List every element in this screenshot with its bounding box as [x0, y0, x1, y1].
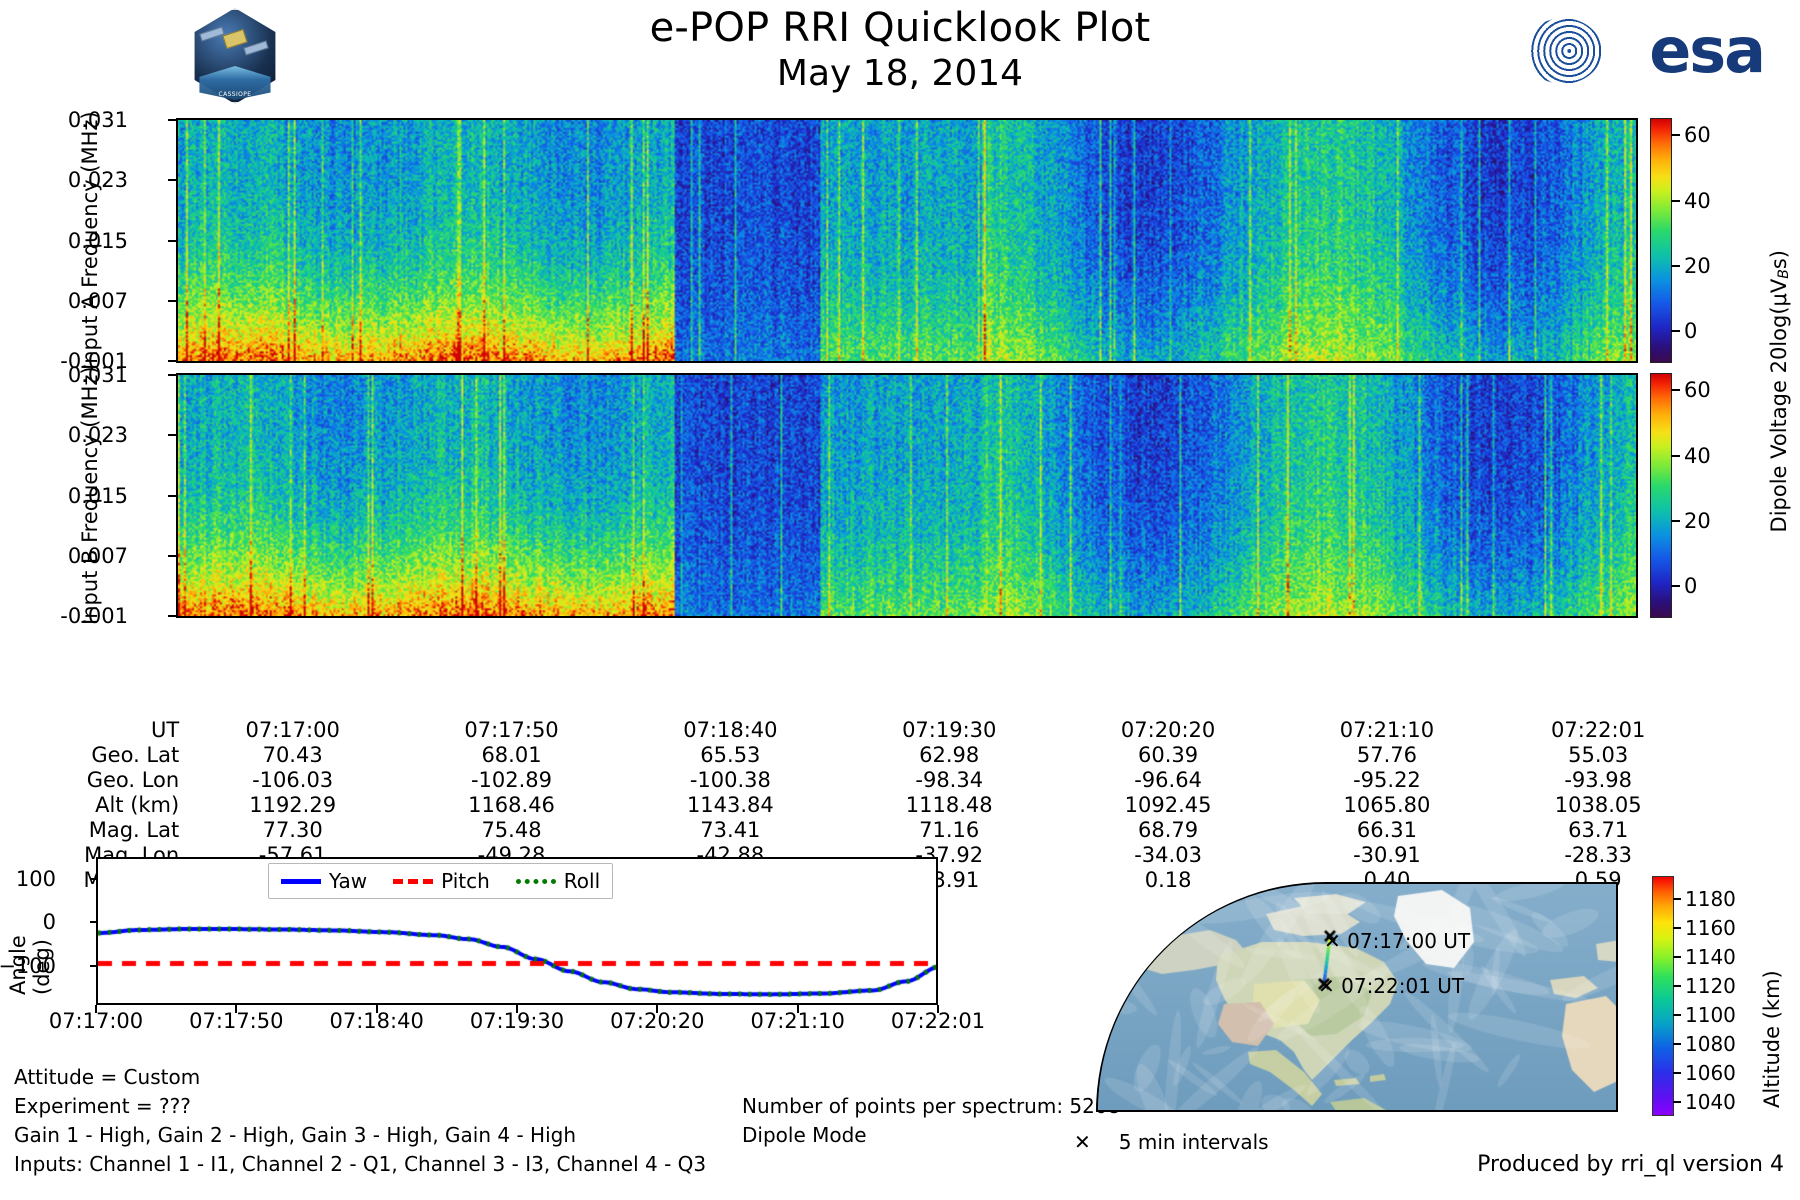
ephemeris-cell: 07:20:20 — [1059, 718, 1278, 743]
attitude-xtick-mark — [235, 1005, 237, 1013]
ephemeris-row-label: Geo. Lat — [0, 743, 183, 768]
legend-label: Pitch — [441, 869, 490, 893]
spectrogram-panel-a: Input A Frequency (MHz) 0.0310.0230.0150… — [0, 118, 1700, 363]
ephemeris-cell: 70.43 — [183, 743, 402, 768]
spectrogram-ytick-label: 0.023 — [68, 423, 128, 447]
ephemeris-cell: 68.01 — [402, 743, 621, 768]
attitude-plot: Angle (deg) 1000−10007:17:0007:17:5007:1… — [0, 855, 1000, 1055]
table-row: UT07:17:0007:17:5007:18:4007:19:3007:20:… — [0, 718, 1700, 743]
spectrogram-b-image — [176, 373, 1638, 618]
spectrogram-ytick-mark — [168, 434, 176, 436]
altitude-tick-label: 1060 — [1685, 1061, 1736, 1085]
colorbar-tick-mark — [1671, 389, 1680, 391]
ephemeris-cell: 77.30 — [183, 818, 402, 843]
spectrogram-ytick-mark — [168, 374, 176, 376]
ephemeris-cell: 07:19:30 — [840, 718, 1059, 743]
attitude-ytick-label: 0 — [43, 910, 56, 934]
spectrogram-ytick-label: 0.007 — [68, 544, 128, 568]
spectrogram-ytick-mark — [168, 240, 176, 242]
table-row: Geo. Lat70.4368.0165.5362.9860.3957.7655… — [0, 743, 1700, 768]
ephemeris-cell: 75.48 — [402, 818, 621, 843]
ephemeris-cell: 1168.46 — [402, 793, 621, 818]
ephemeris-cell: 65.53 — [621, 743, 840, 768]
altitude-tick-mark — [1673, 956, 1681, 958]
ephemeris-cell: 57.76 — [1278, 743, 1497, 768]
legend-swatch-icon — [393, 879, 433, 884]
footer-experiment-line: Experiment = ??? — [14, 1092, 706, 1121]
ephemeris-cell: 1038.05 — [1496, 793, 1700, 818]
footer-inputs-line: Inputs: Channel 1 - I1, Channel 2 - Q1, … — [14, 1150, 706, 1179]
altitude-tick-mark — [1673, 1101, 1681, 1103]
altitude-tick-mark — [1673, 898, 1681, 900]
colorbar-tick-mark — [1671, 585, 1680, 587]
colorbar-tick-mark — [1671, 265, 1680, 267]
interval-legend-label: 5 min intervals — [1119, 1130, 1269, 1154]
table-row: Alt (km)1192.291168.461143.841118.481092… — [0, 793, 1700, 818]
produced-by-label: Produced by rri_ql version 4 — [1477, 1152, 1784, 1177]
colorbar-tick-mark — [1671, 134, 1680, 136]
ground-track-map: ✕ 07:17:00 UT ✕ 07:22:01 UT 118011601140… — [1096, 882, 1636, 1162]
spectrogram-a-image — [176, 118, 1638, 363]
ephemeris-cell: 07:21:10 — [1278, 718, 1497, 743]
spectrogram-ytick-label: -0.001 — [60, 604, 128, 628]
ephemeris-cell: 71.16 — [840, 818, 1059, 843]
colorbar-tick-label: 60 — [1684, 123, 1711, 147]
map-marker-start-label: ✕ 07:17:00 UT — [1324, 929, 1470, 953]
attitude-xtick-mark — [656, 1005, 658, 1013]
footer-points-line: Number of points per spectrum: 5208 — [742, 1092, 1120, 1121]
page-header: CASSIOPE e-POP RRI Quicklook Plot May 18… — [0, 0, 1800, 110]
spectrogram-a-colorbar: 6040200 — [1650, 118, 1672, 363]
altitude-tick-label: 1160 — [1685, 916, 1736, 940]
spectrogram-b-colorbar: 6040200 — [1650, 373, 1672, 618]
ephemeris-cell: 60.39 — [1059, 743, 1278, 768]
colorbar-tick-label: 0 — [1684, 319, 1697, 343]
ephemeris-cell: 07:17:00 — [183, 718, 402, 743]
ephemeris-cell: -30.91 — [1278, 843, 1497, 868]
attitude-ytick-label: −100 — [0, 954, 56, 978]
ephemeris-row-label: Mag. Lat — [0, 818, 183, 843]
colorbar-tick-mark — [1671, 455, 1680, 457]
spectrogram-ytick-mark — [168, 495, 176, 497]
altitude-tick-label: 1180 — [1685, 887, 1736, 911]
spectrogram-a-ytick-labels: 0.0310.0230.0150.007-0.001 — [0, 118, 168, 363]
footer-middle-text: Number of points per spectrum: 5208 Dipo… — [742, 1092, 1120, 1150]
altitude-tick-label: 1040 — [1685, 1090, 1736, 1114]
esa-logo-icon: esa — [1524, 12, 1764, 90]
altitude-tick-mark — [1673, 1072, 1681, 1074]
ephemeris-row-label: Geo. Lon — [0, 768, 183, 793]
colorbar-tick-mark — [1671, 200, 1680, 202]
attitude-legend: YawPitchRoll — [268, 863, 613, 899]
spectrogram-ytick-mark — [168, 119, 176, 121]
ephemeris-cell: 68.79 — [1059, 818, 1278, 843]
ephemeris-cell: 63.71 — [1496, 818, 1700, 843]
footer-attitude-line: Attitude = Custom — [14, 1063, 706, 1092]
altitude-colorbar-title: Altitude (km) — [1760, 898, 1784, 1108]
ephemeris-cell: -34.03 — [1059, 843, 1278, 868]
ephemeris-cell: 07:17:50 — [402, 718, 621, 743]
ephemeris-cell: -100.38 — [621, 768, 840, 793]
ephemeris-cell: -98.34 — [840, 768, 1059, 793]
legend-swatch-icon — [281, 879, 321, 884]
legend-item: Pitch — [393, 869, 490, 893]
spectrogram-ytick-label: 0.015 — [68, 229, 128, 253]
legend-item: Roll — [516, 869, 600, 893]
altitude-tick-mark — [1673, 985, 1681, 987]
interval-marker-icon: ✕ — [1074, 1130, 1091, 1154]
altitude-tick-mark — [1673, 1043, 1681, 1045]
ephemeris-cell: 1092.45 — [1059, 793, 1278, 818]
altitude-colorbar: 11801160114011201100108010601040 — [1652, 876, 1674, 1116]
spectrogram-ytick-mark — [168, 300, 176, 302]
ephemeris-cell: -93.98 — [1496, 768, 1700, 793]
altitude-tick-label: 1140 — [1685, 945, 1736, 969]
ephemeris-cell: 07:22:01 — [1496, 718, 1700, 743]
spectrogram-ytick-label: 0.015 — [68, 484, 128, 508]
ephemeris-cell: -106.03 — [183, 768, 402, 793]
ephemeris-row-label: Alt (km) — [0, 793, 183, 818]
ephemeris-cell: -96.64 — [1059, 768, 1278, 793]
attitude-xtick-mark — [797, 1005, 799, 1013]
legend-label: Yaw — [329, 869, 367, 893]
ephemeris-cell: 1065.80 — [1278, 793, 1497, 818]
colorbar-title-tail: s) — [1767, 250, 1791, 269]
colorbar-tick-mark — [1671, 330, 1680, 332]
ephemeris-cell: -102.89 — [402, 768, 621, 793]
attitude-xtick-mark — [376, 1005, 378, 1013]
spectrogram-ytick-label: 0.031 — [68, 108, 128, 132]
map-marker-end-label: ✕ 07:22:01 UT — [1318, 974, 1464, 998]
ephemeris-row-label: UT — [0, 718, 183, 743]
spectrogram-ytick-mark — [168, 615, 176, 617]
footer-gain-line: Gain 1 - High, Gain 2 - High, Gain 3 - H… — [14, 1121, 706, 1150]
ephemeris-cell: -95.22 — [1278, 768, 1497, 793]
spectrogram-panel-b: Input B Frequency (MHz) 0.0310.0230.0150… — [0, 373, 1700, 618]
ephemeris-cell: 07:18:40 — [621, 718, 840, 743]
attitude-xtick-mark — [937, 1005, 939, 1013]
map-interval-legend: ✕ 5 min intervals — [1074, 1130, 1269, 1154]
spectrogram-ytick-label: 0.031 — [68, 363, 128, 387]
colorbar-axis-title: Dipole Voltage 20log(μVBs) — [1767, 250, 1792, 532]
legend-swatch-icon — [516, 879, 556, 884]
ephemeris-cell: -28.33 — [1496, 843, 1700, 868]
attitude-xtick-mark — [95, 1005, 97, 1013]
legend-item: Yaw — [281, 869, 367, 893]
attitude-xtick-mark — [516, 1005, 518, 1013]
table-row: Mag. Lat77.3075.4873.4171.1668.7966.3163… — [0, 818, 1700, 843]
ephemeris-cell: 73.41 — [621, 818, 840, 843]
ephemeris-cell: 62.98 — [840, 743, 1059, 768]
spectrogram-ytick-label: 0.007 — [68, 289, 128, 313]
attitude-ytick-label: 100 — [16, 867, 56, 891]
spectrogram-ytick-mark — [168, 555, 176, 557]
colorbar-title-main: Dipole Voltage 20log(μV — [1767, 279, 1791, 533]
colorbar-tick-label: 20 — [1684, 254, 1711, 278]
ephemeris-cell: 66.31 — [1278, 818, 1497, 843]
altitude-tick-label: 1120 — [1685, 974, 1736, 998]
legend-label: Roll — [564, 869, 600, 893]
colorbar-tick-label: 40 — [1684, 189, 1711, 213]
altitude-tick-label: 1100 — [1685, 1003, 1736, 1027]
spectrogram-ytick-label: 0.023 — [68, 168, 128, 192]
spectrogram-ytick-mark — [168, 360, 176, 362]
ephemeris-cell: 1143.84 — [621, 793, 840, 818]
altitude-tick-mark — [1673, 927, 1681, 929]
esa-swirl-icon — [1524, 18, 1602, 84]
colorbar-title-sub: B — [1776, 269, 1792, 279]
spectrogram-b-ytick-labels: 0.0310.0230.0150.007-0.001 — [0, 373, 168, 618]
colorbar-tick-mark — [1671, 520, 1680, 522]
altitude-tick-label: 1080 — [1685, 1032, 1736, 1056]
ephemeris-cell: 55.03 — [1496, 743, 1700, 768]
ephemeris-cell: 1118.48 — [840, 793, 1059, 818]
colorbar-tick-label: 60 — [1684, 378, 1711, 402]
colorbar-tick-label: 0 — [1684, 574, 1697, 598]
ephemeris-cell: 1192.29 — [183, 793, 402, 818]
footer-left-text: Attitude = Custom Experiment = ??? Gain … — [14, 1063, 706, 1179]
table-row: Geo. Lon-106.03-102.89-100.38-98.34-96.6… — [0, 768, 1700, 793]
colorbar-tick-label: 20 — [1684, 509, 1711, 533]
footer-mode-line: Dipole Mode — [742, 1121, 1120, 1150]
colorbar-tick-label: 40 — [1684, 444, 1711, 468]
altitude-tick-mark — [1673, 1014, 1681, 1016]
esa-logo-text: esa — [1649, 14, 1764, 87]
spectrogram-ytick-mark — [168, 179, 176, 181]
